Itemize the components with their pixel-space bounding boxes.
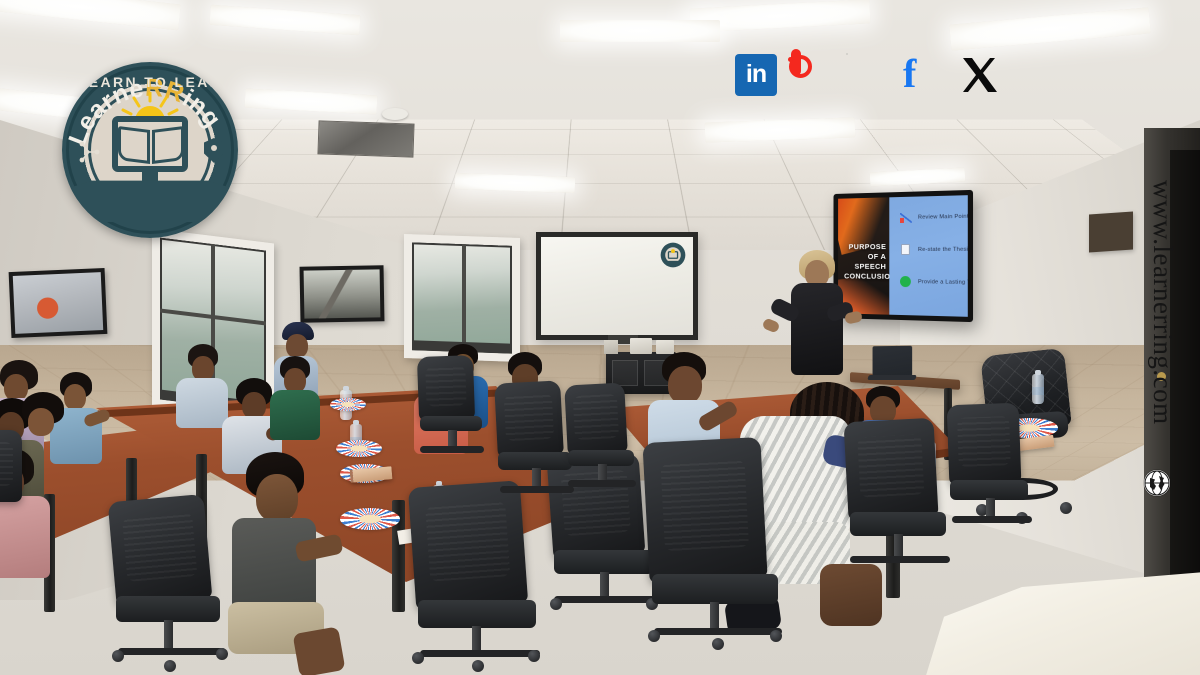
chair-post	[600, 572, 609, 598]
chair-seat	[554, 550, 654, 574]
slide-bullet: Provide a Lasting Thought	[899, 275, 959, 289]
student-head	[242, 392, 266, 419]
x-twitter-icon[interactable]	[959, 54, 1001, 96]
chair-base	[420, 446, 484, 453]
chair-back	[0, 430, 22, 502]
presenter-hand	[844, 310, 863, 324]
slide-body-panel: Review Main Points Re-state the Thesis P…	[889, 195, 967, 317]
chair-caster	[770, 630, 782, 642]
facebook-icon[interactable]: f	[903, 54, 945, 96]
chair-post	[894, 534, 903, 558]
slide-bullet-text: Re-state the Thesis	[918, 246, 971, 252]
instagram-icon[interactable]	[791, 54, 833, 96]
laptop-keyboard[interactable]	[867, 375, 917, 380]
office-chair[interactable]	[412, 484, 562, 670]
chair-seat	[950, 480, 1028, 500]
presenter	[775, 250, 871, 400]
logo-tagline: LEARN TO LEAD	[62, 74, 238, 90]
chair-post	[986, 498, 995, 518]
chair-caster	[528, 650, 540, 662]
chair-back	[843, 418, 938, 521]
chair-base	[850, 556, 950, 563]
chair-caster	[412, 652, 424, 664]
office-chair[interactable]	[112, 498, 238, 674]
framed-certificate	[1089, 211, 1133, 252]
x-glyph	[959, 54, 1001, 96]
photo-scene: PURPOSE OF A SPEECH CONCLUSION Review Ma…	[0, 0, 1200, 675]
chair-post	[710, 602, 719, 630]
chair-seat	[420, 416, 482, 431]
chair-base	[118, 648, 226, 655]
chair-post	[472, 626, 481, 652]
chair-seat	[850, 512, 946, 536]
chair-post	[164, 620, 173, 650]
chart-icon	[899, 211, 912, 224]
chair-caster	[712, 638, 724, 650]
student-torso	[176, 378, 228, 428]
smoke-detector-icon	[382, 108, 408, 120]
chair-caster	[164, 660, 176, 672]
chair-back	[108, 494, 213, 606]
logo-banner	[70, 178, 230, 222]
social-icon-row: in f	[735, 54, 1001, 96]
chair-caster	[472, 660, 484, 672]
office-chair[interactable]	[948, 404, 1044, 532]
chair-base	[554, 596, 658, 603]
student-torso	[232, 518, 316, 610]
student	[226, 452, 352, 674]
linkedin-label: in	[735, 54, 777, 96]
open-book-icon	[152, 126, 184, 164]
office-chair[interactable]	[418, 356, 494, 456]
slide-bullet-text: Review Main Points	[918, 213, 972, 220]
chair-caster	[112, 650, 124, 662]
window-mullion	[462, 244, 466, 352]
office-chair[interactable]	[646, 440, 804, 652]
chair-caster	[216, 648, 228, 660]
pen-cup	[604, 340, 618, 354]
student	[270, 356, 328, 440]
office-chair[interactable]	[566, 384, 646, 494]
chair-post	[532, 468, 541, 488]
chair-caster	[1060, 502, 1072, 514]
website-url: www.learnerring.com	[1147, 180, 1178, 425]
chair-back	[564, 382, 628, 455]
student-head	[668, 366, 702, 404]
presenter-laptop[interactable]	[873, 346, 913, 377]
document-icon	[899, 243, 912, 256]
office-chair[interactable]	[0, 430, 44, 550]
framed-aircraft-photo	[300, 265, 385, 322]
chair-seat	[652, 574, 778, 604]
whiteboard	[536, 232, 698, 340]
open-book-icon	[118, 126, 150, 164]
framed-helicopter-photo	[9, 268, 108, 338]
ceiling-vent	[317, 120, 414, 157]
slide-bullet-text: Provide a Lasting Thought	[918, 279, 973, 286]
slide-bullet: Review Main Points	[899, 210, 959, 224]
presenter-torso	[791, 283, 843, 375]
chair-base	[500, 486, 574, 493]
paper-plate	[330, 398, 366, 411]
learnerring-logo: LearneRRing	[62, 62, 238, 238]
facebook-label: f	[903, 51, 916, 96]
instagram-glyph	[791, 49, 801, 76]
chair-base	[952, 516, 1032, 523]
green-dot-icon	[899, 275, 912, 288]
network-node-icon	[78, 140, 100, 164]
chair-back	[417, 355, 475, 421]
chair-base	[420, 650, 540, 657]
whiteboard-logo-icon	[660, 242, 686, 268]
chair-caster	[648, 630, 660, 642]
cabinet-door[interactable]	[612, 360, 638, 386]
website-globe-icon	[1144, 470, 1170, 496]
chair-base	[654, 628, 782, 635]
chair-back	[494, 380, 564, 457]
helicopter-photo-image	[13, 272, 103, 334]
slide-bullet: Re-state the Thesis	[899, 243, 959, 256]
chair-back	[642, 437, 767, 583]
student-head	[256, 474, 298, 522]
student-torso	[270, 390, 320, 440]
linkedin-icon[interactable]: in	[735, 54, 777, 96]
student-head	[286, 334, 308, 358]
ceiling-light-panel	[560, 20, 720, 42]
water-bottle	[1032, 374, 1044, 404]
chair-back	[947, 403, 1022, 485]
chair-seat	[418, 600, 536, 628]
chair-seat	[116, 596, 220, 622]
globe-website-icon[interactable]	[847, 54, 889, 96]
chair-base	[568, 480, 636, 487]
interior-window	[404, 234, 520, 362]
student-leg	[293, 626, 346, 675]
aircraft-photo-image	[304, 269, 381, 318]
chair-caster	[550, 598, 562, 610]
